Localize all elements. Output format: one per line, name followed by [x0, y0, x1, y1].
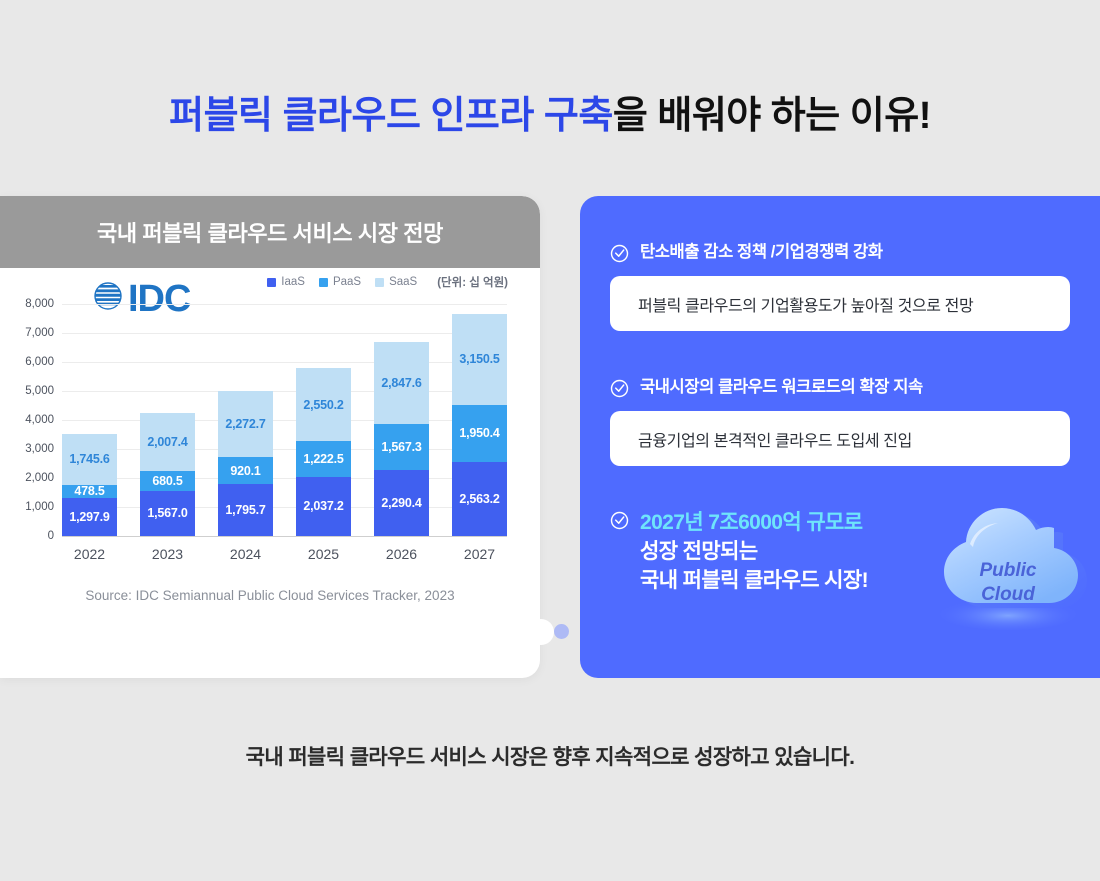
chart-y-tick: 2,000 — [25, 472, 54, 484]
check-circle-icon — [610, 379, 629, 398]
info-highlight-line-2: 성장 전망되는 — [640, 538, 868, 567]
chart-bar-column: 2,272.7920.11,795.7 — [218, 391, 273, 536]
info-item-2-head: 국내시장의 클라우드 워크로드의 확장 지속 — [610, 377, 1070, 398]
chart-unit-label: (단위: 십 억원) — [437, 274, 508, 290]
chart-source-note: Source: IDC Semiannual Public Cloud Serv… — [0, 588, 540, 603]
info-highlight-lines: 2027년 7조6000억 규모로 성장 전망되는 국내 퍼블릭 클라우드 시장… — [640, 509, 868, 596]
chart-x-label: 2026 — [374, 546, 429, 562]
divider-dot-white — [528, 619, 554, 645]
chart-y-tick: 0 — [48, 530, 54, 542]
chart-x-label: 2024 — [218, 546, 273, 562]
chart-bar-segment-paas: 478.5 — [62, 485, 117, 499]
page-title: 퍼블릭 클라우드 인프라 구축을 배워야 하는 이유! — [0, 94, 1100, 140]
legend-swatch-saas — [375, 278, 384, 287]
legend-swatch-iaas — [267, 278, 276, 287]
chart-bar-column: 2,550.21,222.52,037.2 — [296, 368, 351, 536]
chart-gridline: 0 — [62, 536, 507, 537]
info-item-2-heading: 국내시장의 클라우드 워크로드의 확장 지속 — [640, 377, 923, 398]
legend-item-iaas: IaaS — [267, 276, 305, 288]
legend-swatch-paas — [319, 278, 328, 287]
info-item-2: 국내시장의 클라우드 워크로드의 확장 지속 금융기업의 본격적인 클라우드 도… — [610, 377, 1070, 466]
chart-card: 국내 퍼블릭 클라우드 서비스 시장 전망 IaaS PaaS SaaS (단위… — [0, 196, 540, 678]
chart-bar-segment-iaas: 2,037.2 — [296, 477, 351, 536]
chart-y-tick: 6,000 — [25, 356, 54, 368]
chart-y-tick: 7,000 — [25, 327, 54, 339]
chart-y-tick: 4,000 — [25, 414, 54, 426]
chart-x-label: 2022 — [62, 546, 117, 562]
public-cloud-icon: Public Cloud — [916, 492, 1096, 642]
chart-bars: 1,745.6478.51,297.92,007.4680.51,567.02,… — [62, 304, 507, 536]
info-item-2-box-text: 금융기업의 본격적인 클라우드 도입세 진입 — [638, 427, 912, 451]
chart-bar-segment-saas: 2,847.6 — [374, 342, 429, 425]
chart-x-label: 2023 — [140, 546, 195, 562]
chart-x-label: 2027 — [452, 546, 507, 562]
chart-header-title: 국내 퍼블릭 클라우드 서비스 시장 전망 — [97, 216, 443, 248]
check-circle-icon — [610, 244, 629, 263]
chart-plot-area: 8,0007,0006,0005,0004,0003,0002,0001,000… — [62, 304, 507, 536]
chart-x-axis-labels: 202220232024202520262027 — [62, 546, 507, 562]
chart-bar-segment-iaas: 2,290.4 — [374, 470, 429, 536]
info-item-1-heading: 탄소배출 감소 정책 /기업경쟁력 강화 — [640, 242, 883, 263]
chart-y-tick: 5,000 — [25, 385, 54, 397]
info-item-1-box: 퍼블릭 클라우드의 기업활용도가 높아질 것으로 전망 — [610, 276, 1070, 331]
info-card: 탄소배출 감소 정책 /기업경쟁력 강화 퍼블릭 클라우드의 기업활용도가 높아… — [580, 196, 1100, 678]
legend-label-iaas: IaaS — [281, 276, 305, 288]
chart-bar-segment-saas: 2,272.7 — [218, 391, 273, 457]
chart-x-label: 2025 — [296, 546, 351, 562]
divider-dot-blue — [554, 624, 569, 639]
info-item-1: 탄소배출 감소 정책 /기업경쟁력 강화 퍼블릭 클라우드의 기업활용도가 높아… — [610, 242, 1070, 331]
chart-bar-segment-iaas: 1,795.7 — [218, 484, 273, 536]
info-highlight: 2027년 7조6000억 규모로 성장 전망되는 국내 퍼블릭 클라우드 시장… — [610, 509, 868, 596]
chart-bar-segment-saas: 3,150.5 — [452, 314, 507, 405]
chart-header: 국내 퍼블릭 클라우드 서비스 시장 전망 — [0, 196, 540, 268]
chart-bar-column: 2,847.61,567.32,290.4 — [374, 342, 429, 536]
info-item-1-box-text: 퍼블릭 클라우드의 기업활용도가 높아질 것으로 전망 — [638, 292, 973, 316]
page-title-plain: 을 배워야 하는 이유! — [613, 95, 931, 137]
chart-bar-segment-saas: 2,007.4 — [140, 413, 195, 471]
info-item-2-box: 금융기업의 본격적인 클라우드 도입세 진입 — [610, 411, 1070, 466]
chart-body: IaaS PaaS SaaS (단위: 십 억원) — [0, 268, 540, 678]
info-highlight-line-1: 2027년 7조6000억 규모로 — [640, 509, 868, 538]
chart-bar-segment-iaas: 1,297.9 — [62, 498, 117, 536]
chart-bar-segment-paas: 920.1 — [218, 457, 273, 484]
chart-y-tick: 1,000 — [25, 501, 54, 513]
chart-y-tick: 3,000 — [25, 443, 54, 455]
chart-bar-segment-saas: 1,745.6 — [62, 434, 117, 485]
chart-bar-segment-iaas: 2,563.2 — [452, 462, 507, 536]
chart-bar-column: 3,150.51,950.42,563.2 — [452, 314, 507, 536]
cloud-label-line-1: Public — [979, 560, 1036, 581]
page-title-accent: 퍼블릭 클라우드 인프라 구축 — [169, 95, 613, 137]
chart-bar-segment-paas: 1,222.5 — [296, 441, 351, 476]
cloud-label-line-2: Cloud — [981, 584, 1035, 605]
chart-bar-segment-paas: 1,567.3 — [374, 424, 429, 469]
chart-bar-column: 2,007.4680.51,567.0 — [140, 413, 195, 536]
legend-label-saas: SaaS — [389, 276, 417, 288]
legend-item-paas: PaaS — [319, 276, 361, 288]
chart-y-tick: 8,000 — [25, 298, 54, 310]
info-highlight-line-3: 국내 퍼블릭 클라우드 시장! — [640, 567, 868, 596]
chart-bar-segment-saas: 2,550.2 — [296, 368, 351, 442]
chart-bar-segment-paas: 1,950.4 — [452, 405, 507, 462]
legend-label-paas: PaaS — [333, 276, 361, 288]
info-item-1-head: 탄소배출 감소 정책 /기업경쟁력 강화 — [610, 242, 1070, 263]
panels-row: 국내 퍼블릭 클라우드 서비스 시장 전망 IaaS PaaS SaaS (단위… — [0, 196, 1100, 678]
chart-bar-segment-paas: 680.5 — [140, 471, 195, 491]
chart-bar-segment-iaas: 1,567.0 — [140, 491, 195, 536]
footer-caption: 국내 퍼블릭 클라우드 서비스 시장은 향후 지속적으로 성장하고 있습니다. — [0, 741, 1100, 771]
check-circle-icon — [610, 511, 629, 530]
chart-bar-column: 1,745.6478.51,297.9 — [62, 434, 117, 536]
chart-legend: IaaS PaaS SaaS (단위: 십 억원) — [267, 274, 508, 290]
legend-item-saas: SaaS — [375, 276, 417, 288]
